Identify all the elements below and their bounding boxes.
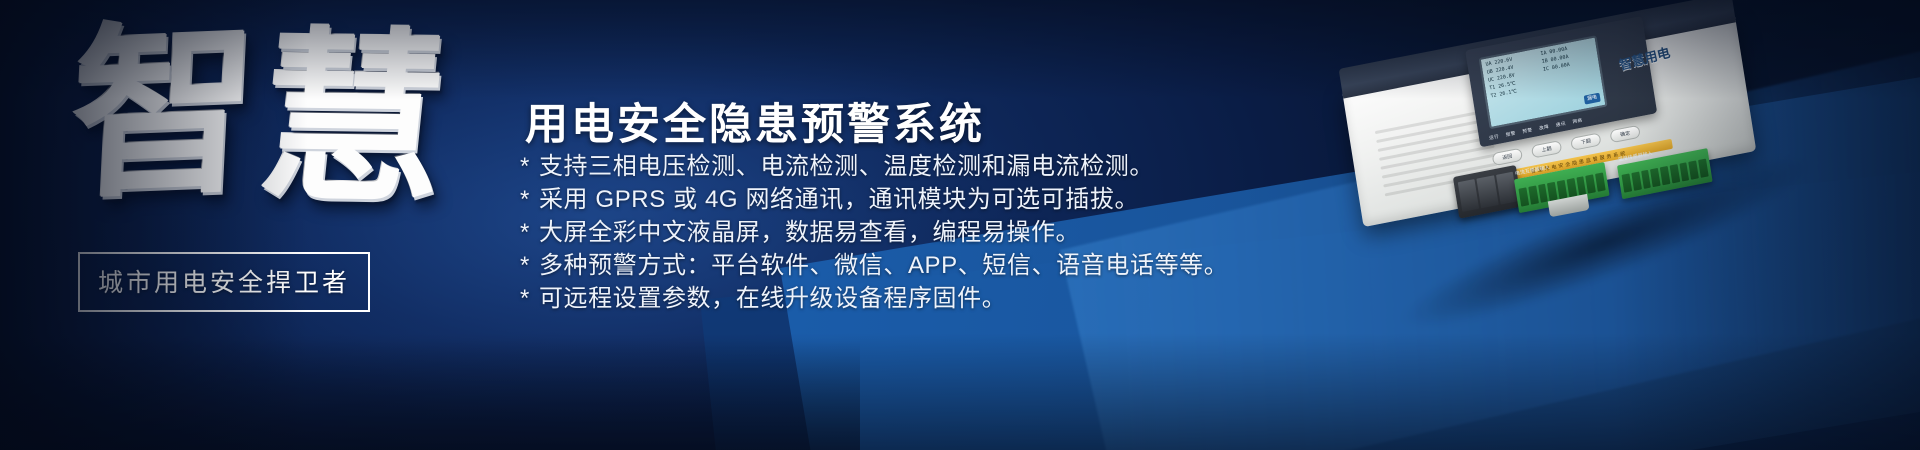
bullet-text: 支持三相电压检测、电流检测、温度检测和漏电流检测。 <box>539 153 1154 180</box>
page-title: 用电安全隐患预警系统 <box>525 90 985 152</box>
list-item: *采用 GPRS 或 4G 网络通讯，通讯模块为可选可插拔。 <box>520 183 1228 216</box>
bullet-text: 可远程设置参数，在线升级设备程序固件。 <box>539 285 1006 312</box>
bullet-text: 大屏全彩中文液晶屏，数据易查看，编程易操作。 <box>539 219 1080 246</box>
calligraphy-char-2: 慧 <box>252 30 459 208</box>
product-image: UA 220.6V IA 00.00A UB 220.4V IB 00.00A … <box>1330 18 1870 348</box>
list-item: *可远程设置参数，在线升级设备程序固件。 <box>520 282 1228 315</box>
calligraphy-char-1: 智 <box>66 0 266 224</box>
banner-root: 智慧 城市用电安全捍卫者 用电安全隐患预警系统 *支持三相电压检测、电流检测、温… <box>0 0 1920 450</box>
calligraphy-title: 智慧 <box>63 16 406 278</box>
list-item: *支持三相电压检测、电流检测、温度检测和漏电流检测。 <box>520 150 1228 183</box>
device-illustration: UA 220.6V IA 00.00A UB 220.4V IB 00.00A … <box>1315 0 1804 300</box>
bullet-marker: * <box>520 153 530 180</box>
bullet-text: 采用 GPRS 或 4G 网络通讯，通讯模块为可选可插拔。 <box>539 186 1139 213</box>
bullet-marker: * <box>520 219 530 246</box>
bullet-marker: * <box>520 285 530 312</box>
tagline-box: 城市用电安全捍卫者 <box>78 252 370 312</box>
list-item: *多种预警方式：平台软件、微信、APP、短信、语音电话等等。 <box>520 249 1228 282</box>
feature-list: *支持三相电压检测、电流检测、温度检测和漏电流检测。 *采用 GPRS 或 4G… <box>520 150 1228 315</box>
list-item: *大屏全彩中文液晶屏，数据易查看，编程易操作。 <box>520 216 1228 249</box>
bullet-marker: * <box>520 186 530 213</box>
lcd-leak-badge: 漏电 <box>1584 93 1601 105</box>
bullet-text: 多种预警方式：平台软件、微信、APP、短信、语音电话等等。 <box>539 252 1228 279</box>
bullet-marker: * <box>520 252 530 279</box>
